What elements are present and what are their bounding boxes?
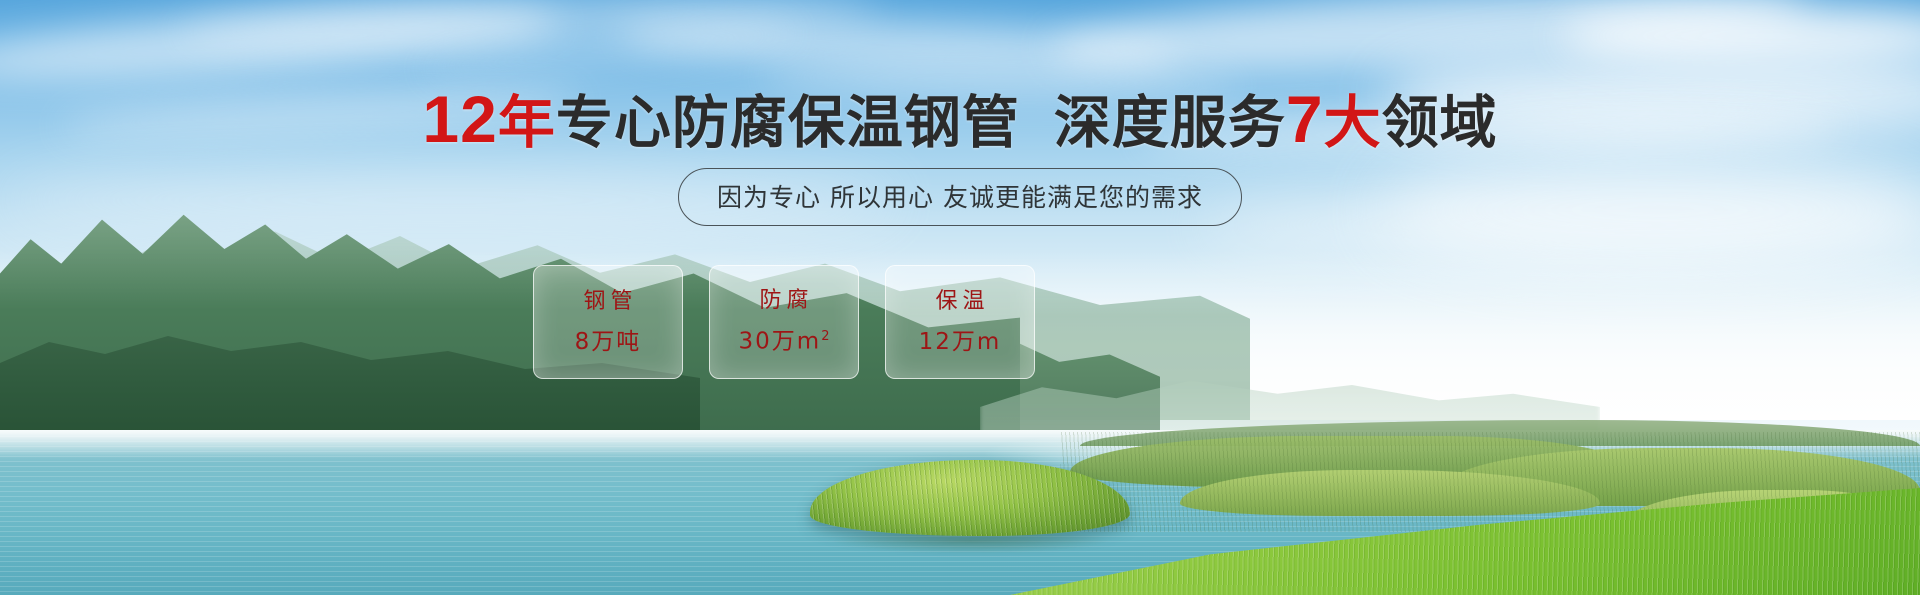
headline-main-text: 专心防腐保温钢管 [556, 90, 1020, 156]
headline-years-unit: 年 [498, 90, 556, 156]
stat-card-title: 防腐 [754, 290, 813, 312]
stat-card-value-text: 12万m [919, 329, 1002, 355]
stat-card[interactable]: 钢管 8万吨 [533, 265, 683, 379]
banner-subtitle-wrap: 因为专心 所以用心 友诚更能满足您的需求 [0, 168, 1920, 226]
stat-card-value-superscript: 2 [821, 329, 829, 344]
stat-card[interactable]: 保温 12万m [885, 265, 1035, 379]
stat-card-value-text: 30万m [739, 329, 822, 355]
stat-card-list: 钢管 8万吨 防腐 30万m2 保温 12万m [533, 265, 1133, 377]
stat-card-title: 保温 [930, 291, 989, 313]
stat-card-value: 30万m2 [739, 330, 830, 354]
hero-banner: 12年专心防腐保温钢管深度服务7大领域 因为专心 所以用心 友诚更能满足您的需求… [0, 0, 1920, 595]
stat-card-value: 8万吨 [575, 331, 642, 354]
banner-subtitle: 因为专心 所以用心 友诚更能满足您的需求 [678, 168, 1242, 226]
stat-card-title: 钢管 [578, 291, 637, 313]
headline-fields-da: 大 [1324, 90, 1382, 156]
banner-headline: 12年专心防腐保温钢管深度服务7大领域 [0, 86, 1920, 152]
headline-fields-number: 7 [1286, 82, 1324, 156]
stat-card[interactable]: 防腐 30万m2 [709, 265, 859, 379]
stat-card-value: 12万m [919, 331, 1002, 354]
stat-card-value-text: 8万吨 [575, 329, 642, 355]
headline-years-number: 12 [422, 82, 497, 156]
headline-fields-text: 领域 [1382, 90, 1498, 156]
headline-service-text: 深度服务 [1054, 90, 1286, 156]
